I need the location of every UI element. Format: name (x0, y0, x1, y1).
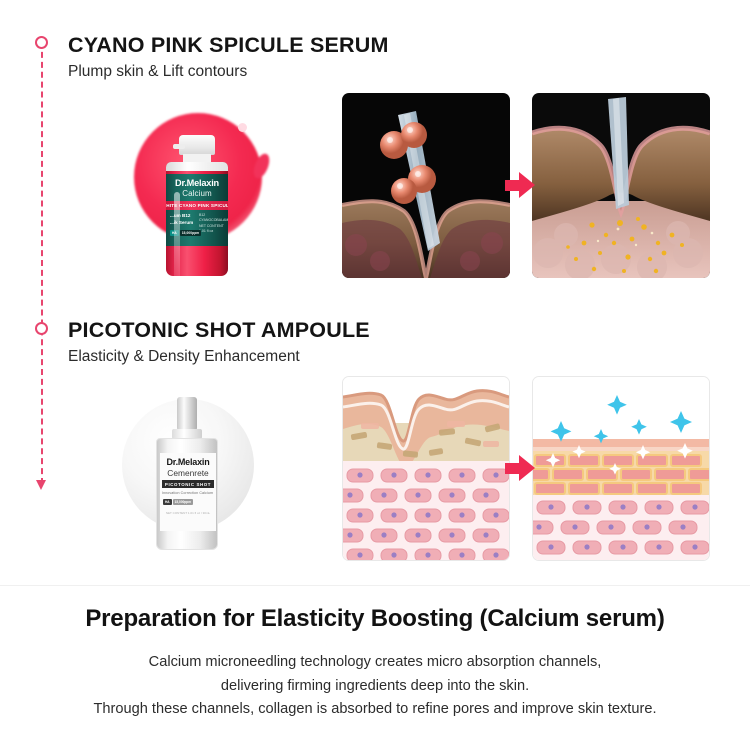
footer-heading: Preparation for Elasticity Boosting (Cal… (0, 605, 750, 633)
timeline-dashed-line (41, 42, 43, 484)
timeline-rail (35, 36, 49, 498)
ampoule-fine-print: NET CONTENT 1.01 fl oz / 30mL (162, 511, 214, 515)
footer-paragraph: Calcium microneedling technology creates… (0, 651, 750, 722)
ampoule-product-line: Cemenrete (160, 468, 216, 478)
bottle-cyanocobalamin-label: CYANOCOBALAMIN (199, 218, 225, 223)
footer-line-1: Calcium microneedling technology creates… (0, 651, 750, 675)
halo-highlight-dot (238, 123, 247, 132)
ampoule-label-band: PICOTONIC SHOT (162, 480, 214, 488)
footer-line-3: Through these channels, collagen is abso… (0, 698, 750, 722)
ampoule-label: Dr.Melaxin Cemenrete PICOTONIC SHOT Inno… (160, 453, 216, 531)
panel-spicule-penetration (532, 93, 710, 278)
ampoule-chip-ha: HA (163, 499, 172, 505)
before-after-arrow-top-icon (505, 172, 535, 198)
panel-spicule-contact (342, 93, 510, 278)
bottle-net-content-label: NET CONTENT (199, 224, 225, 229)
bottle-label-right-column: B12 CYANOCOBALAMIN NET CONTENT 1.01 fl o… (199, 213, 225, 234)
ampoule-brand-name: Dr.Melaxin (160, 457, 216, 467)
before-after-arrow-bottom-icon (505, 455, 535, 481)
ampoule-description: Innovation Correction Calcium Ampoule (162, 491, 214, 495)
bottle-gloss-highlight (174, 192, 180, 276)
wrinkled-skin-illustration (343, 377, 509, 560)
section-2-heading: PICOTONIC SHOT AMPOULE Elasticity & Dens… (68, 318, 370, 366)
spicule-absorption-illustration (532, 93, 710, 278)
bottle-brand-name: Dr.Melaxin (166, 178, 228, 188)
bottle-shoulder (166, 162, 228, 171)
timeline-arrow-down-icon (36, 480, 46, 490)
ampoule-ingredient-chips: HA 15,000ppm (163, 499, 193, 505)
ampoule-bottle-picotonic: Dr.Melaxin Cemenrete PICOTONIC SHOT Inno… (150, 397, 224, 555)
footer-line-2: delivering firming ingredients deep into… (0, 675, 750, 699)
section-divider (0, 585, 750, 586)
bottle-chip-ppm: 15,000ppm (180, 230, 201, 236)
bottle-net-content-value: 1.01 fl oz (199, 229, 225, 234)
product-image-cyano-pink-spicule-serum: Dr.Melaxin Calcium WHITE CYANO PINK SPIC… (120, 105, 280, 285)
bottle-body: Dr.Melaxin Calcium WHITE CYANO PINK SPIC… (166, 162, 228, 276)
ampoule-body: Dr.Melaxin Cemenrete PICOTONIC SHOT Inno… (156, 438, 218, 550)
product-image-picotonic-shot-ampoule: Dr.Melaxin Cemenrete PICOTONIC SHOT Inno… (108, 385, 278, 565)
timeline-marker-step-1-icon (35, 36, 48, 49)
dropper-cap (177, 397, 197, 431)
firm-skin-illustration (533, 377, 709, 560)
footer-copy: Preparation for Elasticity Boosting (Cal… (0, 605, 750, 722)
serum-bottle-cyano: Dr.Melaxin Calcium WHITE CYANO PINK SPIC… (164, 135, 230, 277)
section-2-subtitle: Elasticity & Density Enhancement (68, 348, 370, 367)
section-1-heading: CYANO PINK SPICULE SERUM Plump skin & Li… (68, 33, 389, 81)
bottle-pump-head (179, 135, 215, 155)
panel-skin-after (532, 376, 710, 561)
product-detail-page: CYANO PINK SPICULE SERUM Plump skin & Li… (0, 0, 750, 750)
section-2-title: PICOTONIC SHOT AMPOULE (68, 318, 370, 343)
timeline-marker-step-2-icon (35, 322, 48, 335)
section-1-title: CYANO PINK SPICULE SERUM (68, 33, 389, 58)
ampoule-chip-ppm: 15,000ppm (173, 499, 193, 505)
panel-skin-before (342, 376, 510, 561)
spicule-pore-illustration (342, 93, 510, 278)
section-1-subtitle: Plump skin & Lift contours (68, 63, 389, 82)
